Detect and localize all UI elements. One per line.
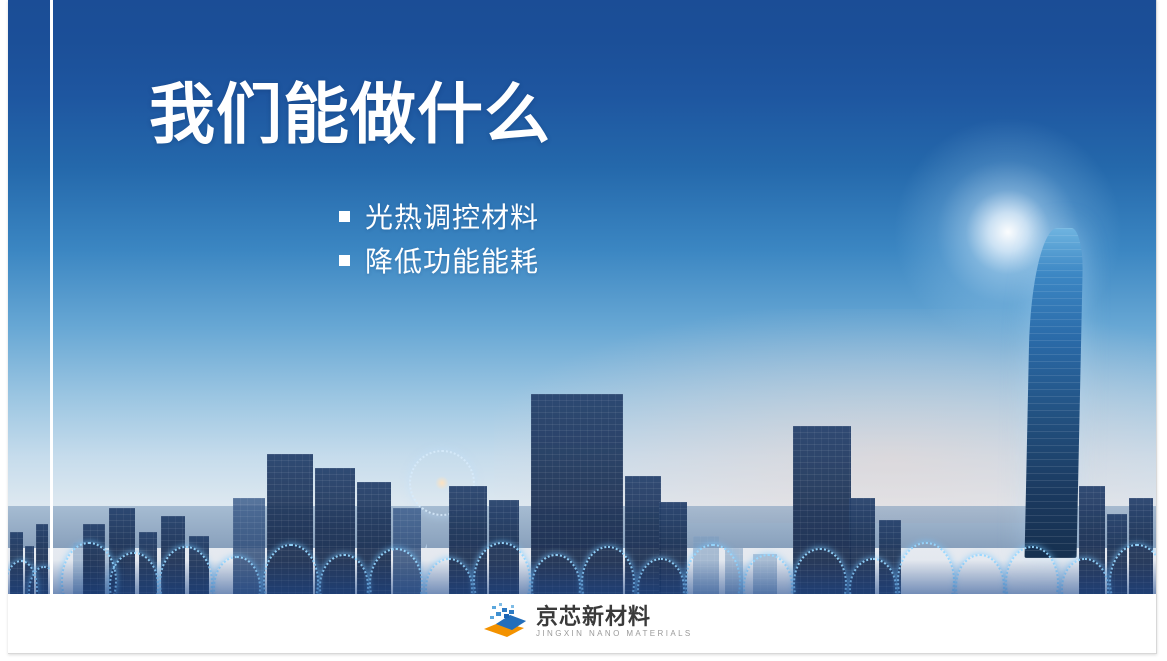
list-item: 光热调控材料: [339, 194, 539, 238]
square-bullet-icon: [339, 255, 350, 266]
list-item-label: 光热调控材料: [365, 196, 539, 236]
skyline-sliver: [8, 364, 50, 594]
network-arcs-sliver: [8, 516, 50, 594]
city-skyline: [53, 364, 1156, 594]
square-bullet-icon: [339, 211, 350, 222]
hero-background-image: 我们能做什么 光热调控材料 降低功能能耗: [8, 0, 1156, 594]
slide-footer: 京芯新材料 JINGXIN NANO MATERIALS: [8, 594, 1156, 653]
bottom-glow: [8, 560, 50, 594]
page-title: 我们能做什么: [149, 79, 551, 150]
list-item: 降低功能能耗: [339, 238, 539, 282]
brand-logo: 京芯新材料 JINGXIN NANO MATERIALS: [480, 600, 693, 644]
jingxin-logo-mark-icon: [480, 602, 528, 642]
brand-name-cn: 京芯新材料: [536, 605, 693, 628]
brand-logo-text: 京芯新材料 JINGXIN NANO MATERIALS: [536, 605, 693, 639]
bottom-glow: [53, 560, 1156, 594]
bullet-list: 光热调控材料 降低功能能耗: [339, 194, 539, 282]
slide-canvas: 我们能做什么 光热调控材料 降低功能能耗: [0, 0, 1167, 661]
slide-frame: 我们能做什么 光热调控材料 降低功能能耗: [8, 0, 1157, 654]
list-item-label: 降低功能能耗: [365, 240, 539, 280]
background-left-sliver: [8, 0, 50, 594]
network-arcs-overlay: [53, 516, 1156, 594]
brand-name-en: JINGXIN NANO MATERIALS: [536, 629, 693, 639]
